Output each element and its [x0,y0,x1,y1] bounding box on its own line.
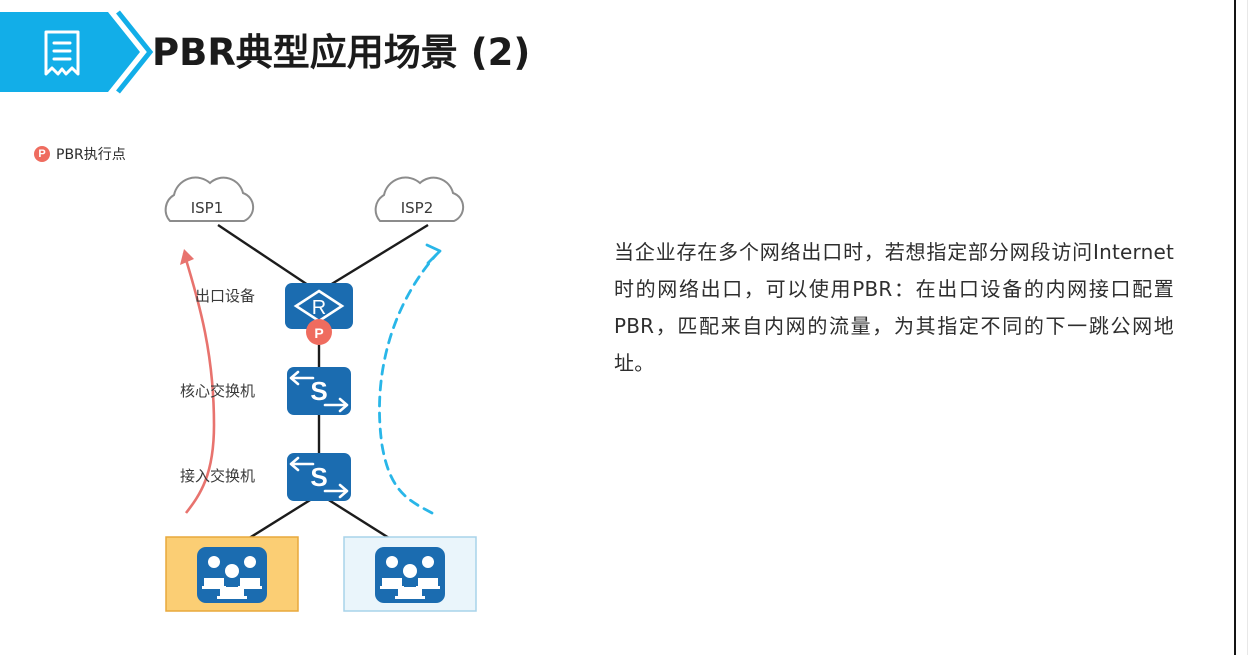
cloud-isp1-label: ISP1 [191,199,224,217]
flow-to-isp2-arrowhead [427,245,440,263]
node-egress-device: R P [285,283,353,345]
user-group-blue [344,537,476,611]
router-glyph: R [312,297,326,319]
flow-to-isp2 [379,255,436,513]
node-access-switch: S [287,453,351,501]
cloud-isp2-label: ISP2 [401,199,434,217]
label-egress-device: 出口设备 [135,285,255,306]
document-icon [38,28,86,78]
label-access-switch: 接入交换机 [118,465,255,486]
cloud-isp1: ISP1 [166,178,253,221]
pbr-badge-label: P [314,325,323,341]
label-core-switch: 核心交换机 [118,380,255,401]
access-switch-glyph: S [310,462,327,492]
slide-right-border [1234,0,1236,655]
core-switch-glyph: S [310,376,327,406]
slide-canvas: PBR典型应用场景 (2) P PBR执行点 [0,0,1248,655]
user-group-orange [166,537,298,611]
legend-label: PBR执行点 [56,144,126,164]
network-topology-diagram: ISP1 ISP2 R [140,175,560,625]
pbr-marker-icon: P [34,146,50,162]
users-icon [197,547,267,603]
legend-pbr-enforcement-point: P PBR执行点 [34,144,126,164]
description-paragraph: 当企业存在多个网络出口时，若想指定部分网段访问Internet时的网络出口，可以… [614,234,1174,382]
page-title: PBR典型应用场景 (2) [152,22,530,76]
users-icon [375,547,445,603]
cloud-isp2: ISP2 [376,178,463,221]
node-core-switch: S [287,367,351,415]
slide-header: PBR典型应用场景 (2) [0,8,700,96]
